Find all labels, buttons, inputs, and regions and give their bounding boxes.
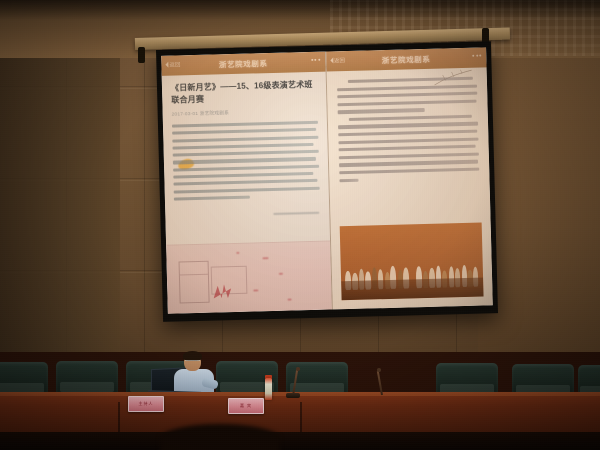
- article-source-caption: [165, 201, 329, 223]
- screen-bracket-left: [138, 47, 145, 63]
- lecture-hall-photo: 返回 浙艺院戏剧系 《日新月艺》——15、16级表演艺术班联合月赛 2017-0…: [0, 0, 600, 450]
- article-poster-image: [166, 241, 331, 314]
- ellipsis-icon-2[interactable]: [472, 54, 481, 56]
- poster-frame-a: [179, 261, 210, 304]
- wechat-article-page-right: 返回 浙艺院戏剧系: [326, 47, 493, 309]
- left-navbar-title: 浙艺院戏剧系: [219, 58, 268, 70]
- back-button-right[interactable]: 返回: [330, 56, 345, 64]
- projection-screen: 返回 浙艺院戏剧系 《日新月艺》——15、16级表演艺术班联合月赛 2017-0…: [156, 41, 498, 322]
- right-navbar-title: 浙艺院戏剧系: [382, 53, 431, 65]
- ceiling-shadow: [0, 0, 600, 20]
- stage-floor: [341, 277, 484, 300]
- name-placard-2: 嘉 宾: [228, 398, 264, 414]
- back-label-left: 返回: [169, 60, 180, 68]
- ellipsis-icon[interactable]: [311, 59, 320, 61]
- glasses-icon: [185, 360, 200, 364]
- placard-text: 主持人: [139, 401, 154, 407]
- left-article-body: [163, 121, 329, 201]
- left-navbar: 返回 浙艺院戏剧系: [161, 52, 325, 76]
- chevron-left-icon: [165, 62, 168, 68]
- right-navbar: 返回 浙艺院戏剧系: [326, 47, 487, 71]
- chevron-left-icon-2: [330, 57, 333, 63]
- article-title: 《日新月艺》——15、16级表演艺术班联合月赛: [171, 79, 317, 107]
- microphone-head-2: [377, 368, 381, 372]
- water-bottle: [265, 378, 272, 400]
- microphone-base: [286, 393, 300, 398]
- group-stage-photo: [339, 223, 483, 301]
- microphone-head: [296, 367, 300, 371]
- name-placard: 主持人: [128, 396, 164, 412]
- placard-text-2: 嘉 宾: [240, 403, 252, 409]
- article-meta: 2017-03-01 浙艺院戏剧系: [172, 108, 318, 118]
- back-button-left[interactable]: 返回: [165, 60, 180, 68]
- right-article-body: [326, 67, 489, 182]
- wall-panel-right: [478, 58, 600, 363]
- projected-image: 返回 浙艺院戏剧系 《日新月艺》——15、16级表演艺术班联合月赛 2017-0…: [161, 47, 493, 313]
- left-article-header: 《日新月艺》——15、16级表演艺术班联合月赛 2017-03-01 浙艺院戏剧…: [162, 72, 327, 118]
- foreground-silhouette: [160, 424, 280, 450]
- wechat-article-page-left: 返回 浙艺院戏剧系 《日新月艺》——15、16级表演艺术班联合月赛 2017-0…: [161, 52, 332, 314]
- floor: [0, 432, 600, 450]
- back-label-right: 返回: [334, 56, 345, 64]
